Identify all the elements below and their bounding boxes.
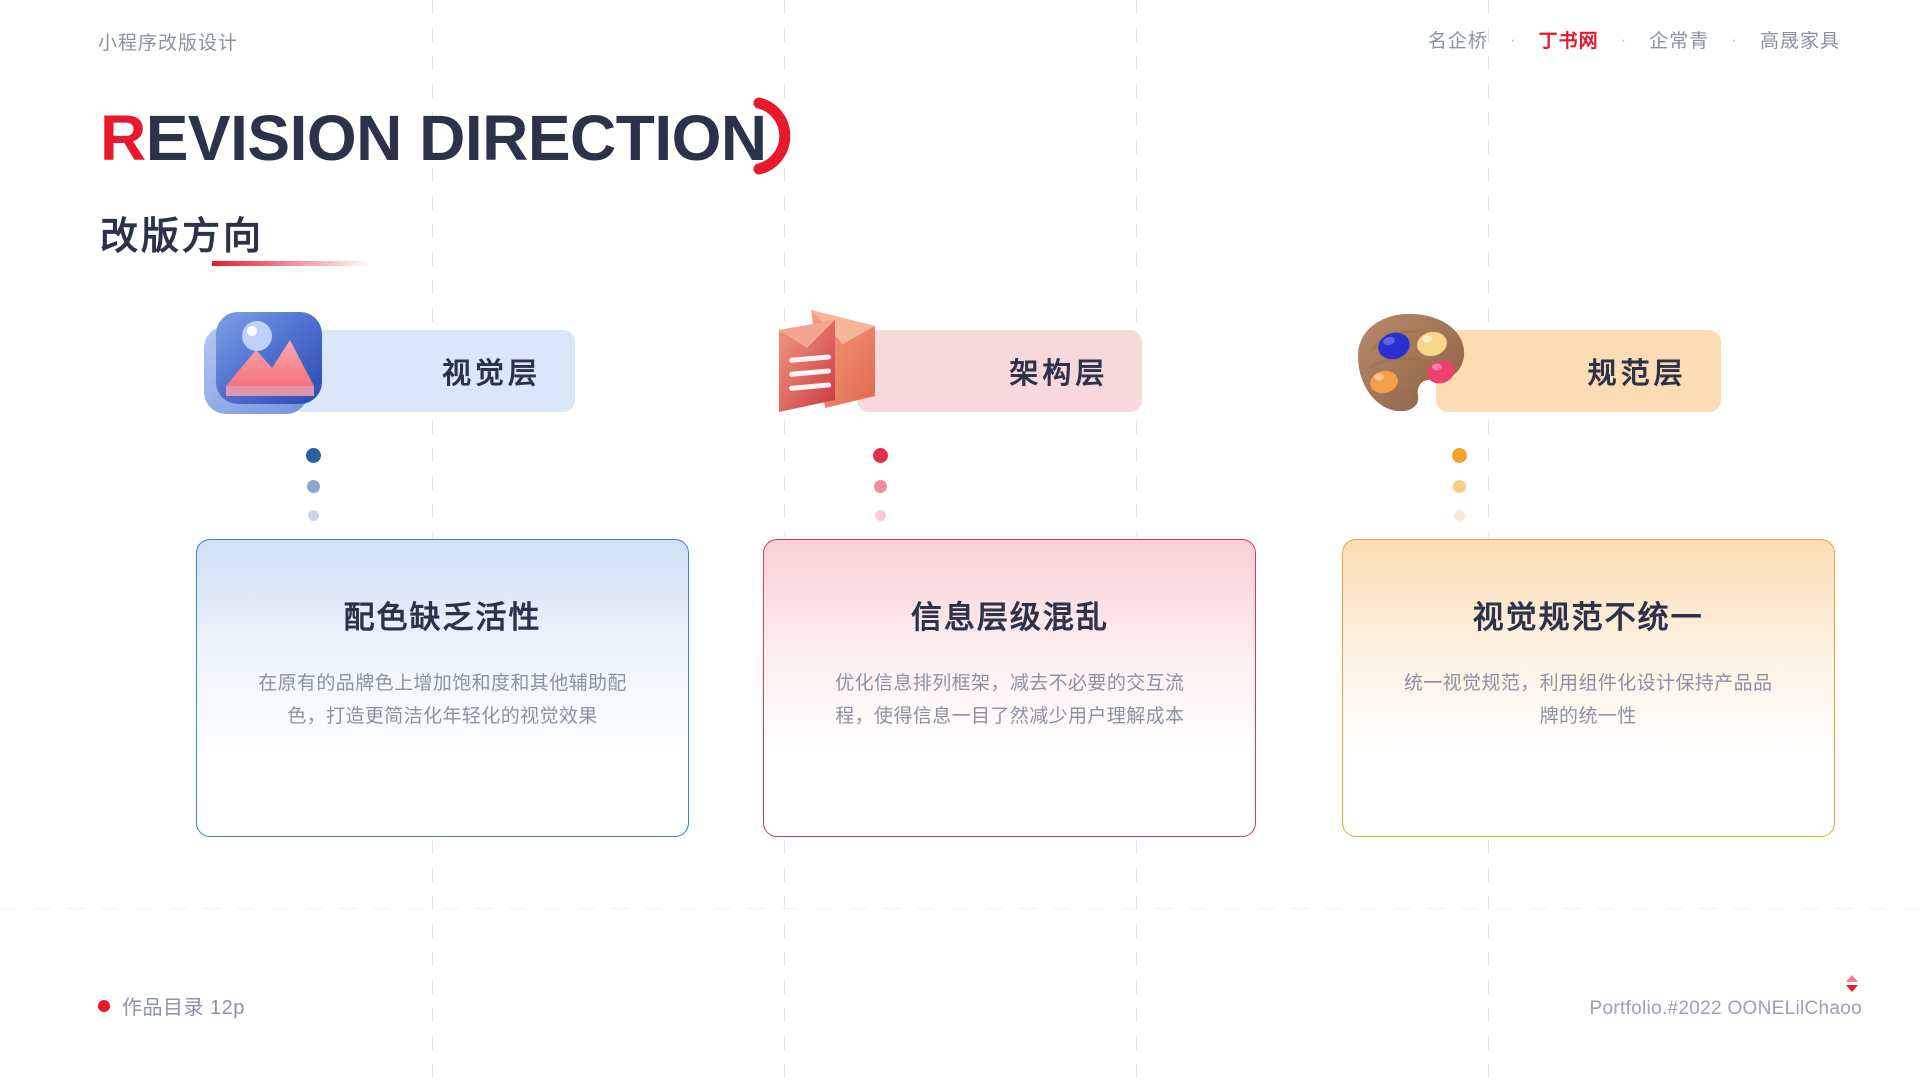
layer-pill-label: 规范层 (1588, 350, 1687, 392)
page-title: REVISION DIRECTION (100, 105, 817, 175)
issue-card-description: 统一视觉规范，利用组件化设计保持产品品牌的统一性 (1396, 667, 1780, 734)
connector-dot (875, 510, 886, 521)
documents-3d-icon (763, 300, 903, 425)
nav-separator: · (1731, 30, 1738, 50)
catalog-label[interactable]: 作品目录 12p (122, 991, 245, 1020)
layer-pill-label: 架构层 (1009, 350, 1108, 392)
connector-dot (1452, 448, 1467, 463)
connector-dot (873, 448, 888, 463)
page-subtitle: 改版方向 (100, 205, 264, 260)
connector-dot (1453, 480, 1466, 493)
issue-card-standards[interactable]: 视觉规范不统一 统一视觉规范，利用组件化设计保持产品品牌的统一性 (1342, 539, 1835, 837)
up-down-arrows-icon[interactable] (1846, 975, 1858, 992)
photo-3d-icon (196, 300, 336, 425)
title-rest: EVISION DIRECTION (146, 105, 767, 172)
layer-pill-label: 视觉层 (442, 350, 541, 392)
issue-card-title: 视觉规范不统一 (1473, 592, 1704, 637)
pill-row: 规范层 (1342, 300, 1920, 430)
revision-columns: 视觉层 (0, 300, 1920, 430)
column-visual: 视觉层 (196, 300, 774, 430)
connector-dot (874, 480, 887, 493)
nav-item-0[interactable]: 名企桥 (1406, 26, 1510, 53)
arrow-down-icon[interactable] (1846, 985, 1858, 992)
title-lead-letter: R (100, 105, 146, 172)
bullet-dot-icon (98, 1000, 110, 1012)
issue-card-description: 优化信息排列框架，减去不必要的交互流程，使得信息一目了然减少用户理解成本 (818, 667, 1202, 734)
issue-card-description: 在原有的品牌色上增加饱和度和其他辅助配色，打造更简洁化年轻化的视觉效果 (251, 667, 635, 734)
nav-item-1[interactable]: 丁书网 (1517, 26, 1621, 53)
nav-item-3[interactable]: 高晟家具 (1738, 26, 1862, 53)
horizontal-guide (0, 908, 1920, 909)
top-bar: 小程序改版设计 名企桥 · 丁书网 · 企常青 · 高晟家具 (0, 0, 1920, 90)
title-block: REVISION DIRECTION 改版方向 (100, 105, 817, 260)
arrow-up-icon[interactable] (1846, 975, 1858, 982)
connector-dot (1454, 510, 1465, 521)
column-architecture: 架构层 (763, 300, 1341, 430)
connector-dots (1452, 448, 1467, 521)
column-standards: 规范层 (1342, 300, 1920, 430)
issue-card-visual[interactable]: 配色缺乏活性 在原有的品牌色上增加饱和度和其他辅助配色，打造更简洁化年轻化的视觉… (196, 539, 689, 837)
connector-dot (307, 480, 320, 493)
nav-separator: · (1510, 30, 1517, 50)
project-nav: 名企桥 · 丁书网 · 企常青 · 高晟家具 (1406, 26, 1862, 53)
portfolio-credit: Portfolio.#2022 OONELilChaoo (1590, 998, 1862, 1020)
issue-card-architecture[interactable]: 信息层级混乱 优化信息排列框架，减去不必要的交互流程，使得信息一目了然减少用户理… (763, 539, 1256, 837)
issue-card-title: 信息层级混乱 (911, 592, 1109, 637)
arc-swoosh-icon (761, 105, 817, 175)
connector-dot (308, 510, 319, 521)
nav-separator: · (1621, 30, 1628, 50)
connector-dot (306, 448, 321, 463)
palette-3d-icon (1342, 300, 1482, 425)
deck-kicker: 小程序改版设计 (98, 28, 238, 55)
footer-left: 作品目录 12p (98, 991, 245, 1020)
pill-row: 视觉层 (196, 300, 774, 430)
connector-dots (306, 448, 321, 521)
connector-dots (873, 448, 888, 521)
subtitle-underline (212, 261, 372, 266)
nav-item-2[interactable]: 企常青 (1627, 26, 1731, 53)
pill-row: 架构层 (763, 300, 1341, 430)
issue-card-title: 配色缺乏活性 (344, 592, 542, 637)
subtitle-block: 改版方向 (100, 205, 264, 260)
